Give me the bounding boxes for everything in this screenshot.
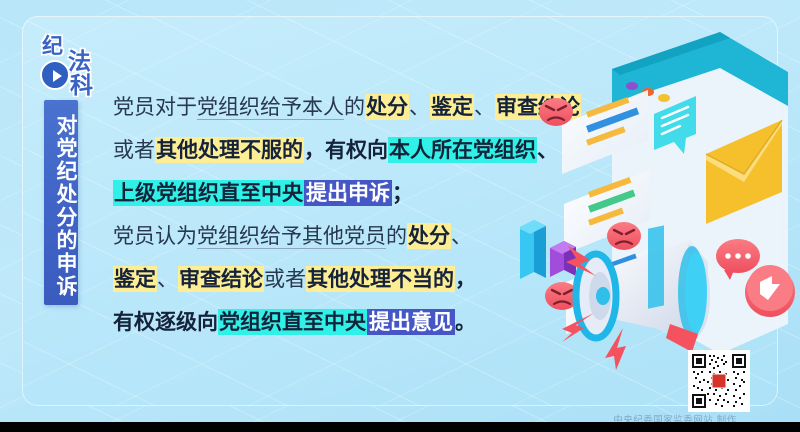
text-segment: 其他处理不服的	[155, 137, 304, 163]
text-segment: 或者	[264, 267, 306, 291]
text-line-line-5: 鉴定、审查结论或者其他处理不当的，	[113, 258, 558, 301]
text-segment: 、	[157, 267, 178, 291]
text-segment: 鉴定	[113, 266, 157, 292]
text-line-line-3: 上级党组织直至中央提出申诉；	[113, 172, 558, 215]
text-segment: 或者	[113, 138, 155, 162]
text-segment: 党员认为	[113, 224, 197, 248]
qr-code[interactable]	[688, 350, 750, 412]
text-segment: 、	[474, 95, 495, 119]
text-segment: ，	[455, 267, 476, 291]
poster-canvas: 纪 法 科 对党纪处分的申诉 党员对于党组织给予本人的处分、鉴定、审查结论 或者…	[0, 0, 800, 432]
text-segment: 处分	[365, 94, 409, 120]
text-line-line-6: 有权逐级向党组织直至中央提出意见。	[113, 301, 558, 344]
text-segment: 上级党组织直至中央	[113, 180, 304, 206]
angry-face-icon	[607, 222, 641, 250]
text-line-line-1: 党员对于党组织给予本人的处分、鉴定、审查结论	[113, 86, 558, 129]
vertical-title-banner: 对党纪处分的申诉	[44, 100, 78, 305]
text-segment: 提出意见	[367, 309, 455, 335]
qr-pattern	[690, 352, 748, 410]
text-line-line-4: 党员认为党组织给予其他党员的处分、	[113, 215, 558, 258]
text-segment: 的	[344, 95, 365, 119]
text-segment: 本人所在党组织	[388, 137, 537, 163]
text-line-line-2: 或者其他处理不服的，有权向本人所在党组织、	[113, 129, 558, 172]
text-segment: 、	[409, 95, 430, 119]
text-segment: ，有权向	[304, 138, 388, 162]
text-segment: 鉴定	[430, 94, 474, 120]
text-segment: 审查结论	[178, 266, 264, 292]
text-segment: 。	[455, 310, 476, 334]
qr-logo-badge	[712, 374, 727, 389]
bottom-bar	[0, 422, 800, 432]
text-segment: 的	[386, 224, 407, 248]
angry-face-icon	[539, 98, 573, 126]
text-segment: 党组织直至中央	[218, 309, 367, 335]
isometric-illustration	[520, 24, 800, 404]
text-segment: 党组织给予本人	[197, 95, 344, 120]
body-text: 党员对于党组织给予本人的处分、鉴定、审查结论 或者其他处理不服的，有权向本人所在…	[113, 86, 558, 344]
text-segment: 、	[451, 224, 472, 248]
logo-char-ji: 纪	[42, 30, 62, 60]
text-segment: 党组织给予其他党员	[197, 224, 386, 249]
text-segment: 党员对于	[113, 95, 197, 119]
text-segment: 提出申诉	[304, 180, 392, 206]
text-segment: ；	[392, 181, 413, 205]
play-circle-icon	[40, 60, 70, 90]
logo-char-ke: 科	[70, 66, 93, 100]
text-segment: 其他处理不当的	[306, 266, 455, 292]
text-segment: 处分	[407, 223, 451, 249]
brand-logo: 纪 法 科	[38, 30, 114, 100]
text-segment: 有权逐级向	[113, 310, 218, 334]
